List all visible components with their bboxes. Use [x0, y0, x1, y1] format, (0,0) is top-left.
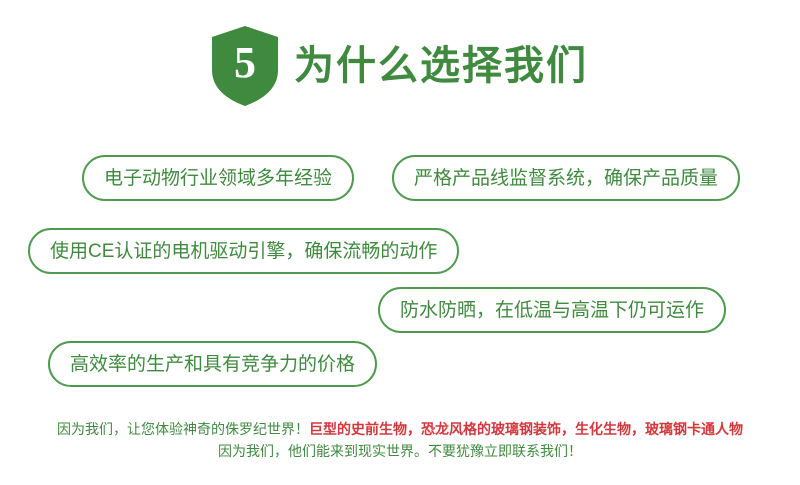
footer-line-2: 因为我们，他们能来到现实世界。不要犹豫立即联系我们！ — [0, 440, 800, 462]
footer-line-1-highlight: 巨型的史前生物，恐龙风格的玻璃钢装饰，生化生物，玻璃钢卡通人物 — [309, 421, 743, 437]
reason-pill-2-label: 严格产品线监督系统，确保产品质量 — [414, 169, 718, 188]
footer-line-1: 因为我们，让您体验神奇的侏罗纪世界！巨型的史前生物，恐龙风格的玻璃钢装饰，生化生… — [0, 418, 800, 440]
reason-pill-4: 防水防晒，在低温与高温下仍可运作 — [378, 287, 726, 333]
reason-pill-1-label: 电子动物行业领域多年经验 — [104, 169, 332, 188]
reason-pill-1: 电子动物行业领域多年经验 — [82, 155, 354, 201]
reason-pill-5-label: 高效率的生产和具有竞争力的价格 — [70, 355, 355, 374]
shield-icon: 5 — [212, 26, 278, 106]
reason-pill-3-label: 使用CE认证的电机驱动引擎，确保流畅的动作 — [50, 242, 437, 261]
page-header: 5 为什么选择我们 — [0, 26, 800, 106]
reason-pill-2: 严格产品线监督系统，确保产品质量 — [392, 155, 740, 201]
reason-pill-4-label: 防水防晒，在低温与高温下仍可运作 — [400, 301, 704, 320]
promo-page: 5 为什么选择我们 电子动物行业领域多年经验 严格产品线监督系统，确保产品质量 … — [0, 0, 800, 485]
reason-pill-5: 高效率的生产和具有竞争力的价格 — [48, 341, 377, 387]
badge-number: 5 — [212, 26, 278, 98]
footer-line-1-prefix: 因为我们，让您体验神奇的侏罗纪世界！ — [57, 421, 309, 437]
page-title: 为什么选择我们 — [294, 46, 588, 86]
reason-pill-3: 使用CE认证的电机驱动引擎，确保流畅的动作 — [28, 228, 459, 274]
footer-text: 因为我们，让您体验神奇的侏罗纪世界！巨型的史前生物，恐龙风格的玻璃钢装饰，生化生… — [0, 418, 800, 462]
